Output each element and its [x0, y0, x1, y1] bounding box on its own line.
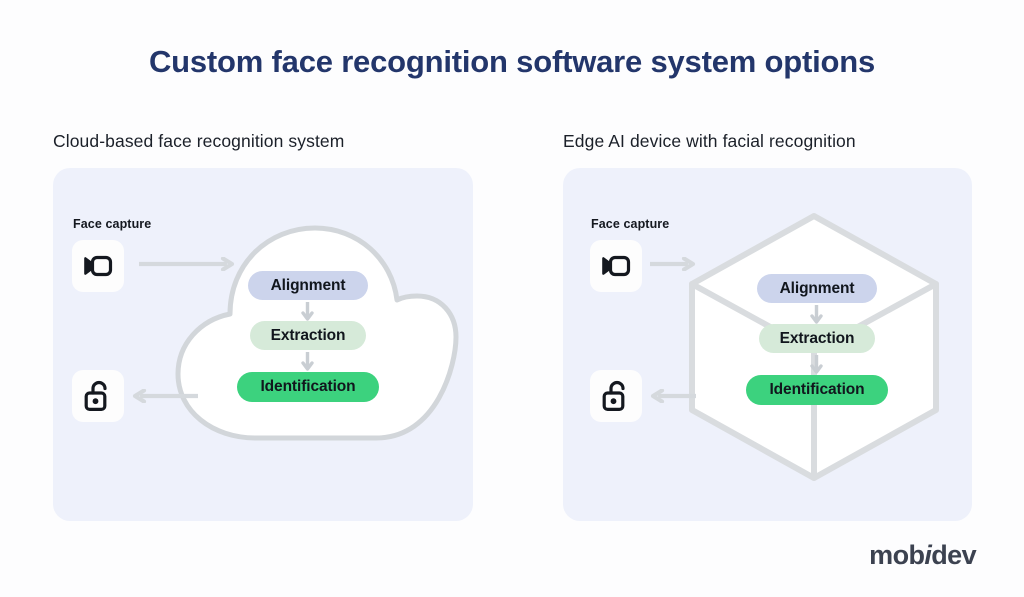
arrow-capture-to-cube: [650, 257, 696, 271]
arrow-extraction-to-identification-cloud: [301, 352, 314, 371]
arrow-cloud-to-output: [132, 389, 198, 403]
arrow-alignment-to-extraction-edge: [810, 305, 823, 324]
mobidev-logo: mobidev: [869, 540, 976, 571]
unlocked-padlock-icon-tile-edge[interactable]: [590, 370, 642, 422]
capture-label-cloud: Face capture: [73, 217, 151, 231]
step-pill-extraction-cloud[interactable]: Extraction: [250, 321, 366, 350]
step-label: Identification: [260, 378, 355, 396]
logo-part1: mob: [869, 540, 924, 570]
capture-label-edge: Face capture: [591, 217, 669, 231]
panel-title-cloud: Cloud-based face recognition system: [53, 131, 344, 152]
arrow-capture-to-cloud: [139, 257, 235, 271]
unlocked-padlock-icon-tile-cloud[interactable]: [72, 370, 124, 422]
video-camera-icon-tile-edge[interactable]: [590, 240, 642, 292]
step-pill-identification-edge[interactable]: Identification: [746, 375, 888, 405]
step-label: Extraction: [780, 330, 855, 348]
video-camera-icon: [601, 255, 631, 277]
video-camera-icon-tile-cloud[interactable]: [72, 240, 124, 292]
step-pill-extraction-edge[interactable]: Extraction: [759, 324, 875, 353]
arrow-alignment-to-extraction-cloud: [301, 302, 314, 321]
arrow-cube-to-output: [650, 389, 696, 403]
video-camera-icon: [83, 255, 113, 277]
step-label: Identification: [769, 381, 864, 399]
unlocked-padlock-icon: [602, 380, 630, 412]
panel-title-edge: Edge AI device with facial recognition: [563, 131, 856, 152]
step-label: Extraction: [271, 327, 346, 345]
step-pill-identification-cloud[interactable]: Identification: [237, 372, 379, 402]
step-label: Alignment: [271, 277, 346, 295]
logo-part2: dev: [931, 540, 976, 570]
page-title: Custom face recognition software system …: [0, 44, 1024, 80]
arrow-extraction-to-identification-edge: [810, 355, 823, 374]
unlocked-padlock-icon: [84, 380, 112, 412]
step-label: Alignment: [780, 280, 855, 298]
step-pill-alignment-edge[interactable]: Alignment: [757, 274, 877, 303]
step-pill-alignment-cloud[interactable]: Alignment: [248, 271, 368, 300]
